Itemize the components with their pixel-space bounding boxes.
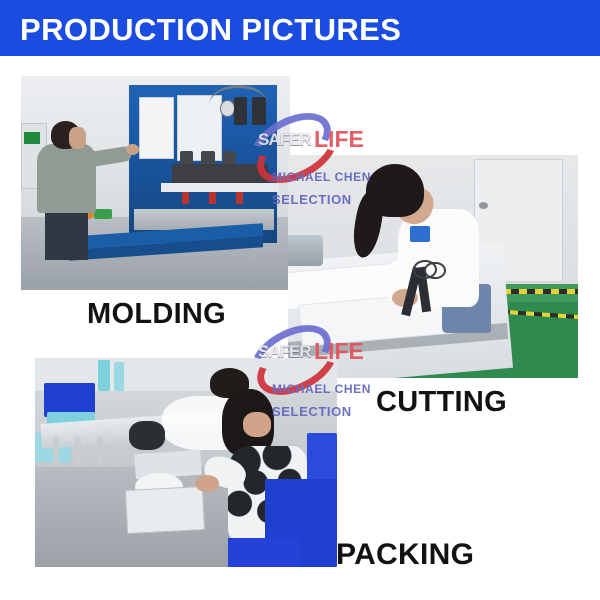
press-stopper-2 (209, 192, 215, 205)
fabric-roll (288, 235, 323, 266)
press-head (172, 164, 269, 183)
worker1-face (243, 412, 270, 437)
blue-bin-back (307, 433, 337, 483)
floor-item-green (94, 209, 113, 220)
photo-packing[interactable] (35, 358, 337, 567)
packing-tray (125, 486, 205, 534)
press-stopper-1 (182, 192, 188, 205)
door-handle-icon (479, 202, 488, 209)
worker1-hand (195, 475, 219, 492)
molding-scene (21, 76, 290, 290)
photo-cutting[interactable] (288, 155, 578, 378)
worker-face (69, 127, 85, 148)
cutting-scene (288, 155, 578, 378)
caption-molding: MOLDING (87, 298, 226, 331)
shirt-logo (410, 226, 430, 242)
caption-cutting: CUTTING (376, 386, 507, 419)
worker-legs (45, 209, 88, 260)
air-regulator-2 (252, 97, 265, 125)
press-bar (161, 183, 279, 192)
bottle-1 (98, 360, 110, 391)
page-title: PRODUCTION PICTURES (20, 13, 401, 47)
page-header-bar: PRODUCTION PICTURES (0, 0, 600, 56)
press-stopper-3 (236, 192, 242, 205)
watermark-brand-secondary: LIFE (314, 126, 364, 153)
caption-packing: PACKING (336, 538, 474, 572)
machine-panel-left (139, 97, 173, 159)
bottle-2 (114, 362, 125, 391)
production-pictures-page: PRODUCTION PICTURES (0, 0, 600, 600)
packing-scene (35, 358, 337, 567)
operator-hair (366, 164, 424, 218)
exit-sign (24, 132, 40, 145)
photo-molding[interactable] (21, 76, 290, 290)
scissors-handle-2 (424, 262, 445, 279)
dark-bin (129, 421, 165, 450)
blue-bin-bottom (228, 538, 300, 567)
air-regulator-1 (234, 97, 247, 125)
